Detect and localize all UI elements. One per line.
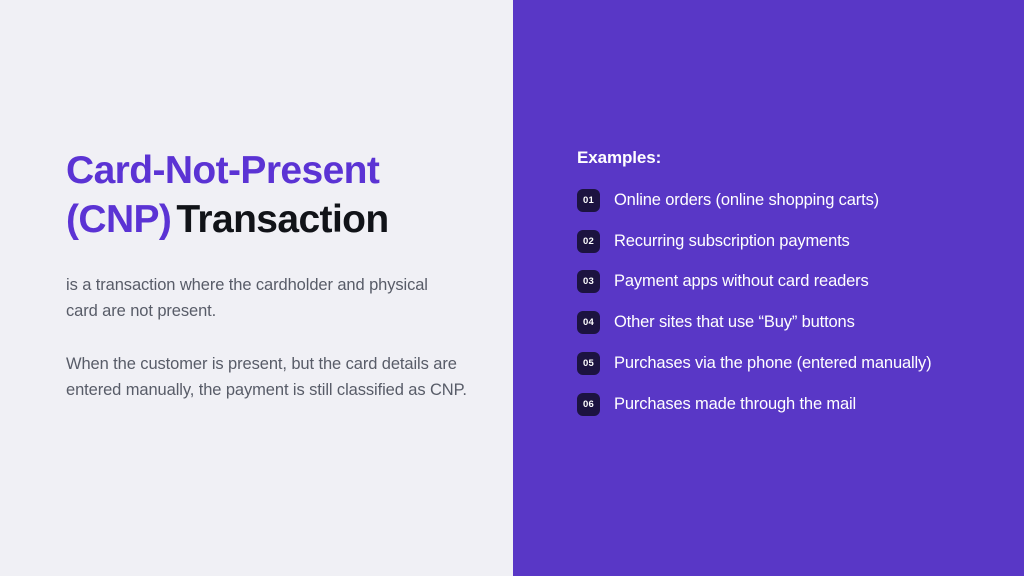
item-number-badge: 03 — [577, 270, 600, 293]
item-number-badge: 05 — [577, 352, 600, 375]
item-label: Online orders (online shopping carts) — [614, 187, 879, 214]
examples-list: 01 Online orders (online shopping carts)… — [577, 187, 977, 417]
item-label: Recurring subscription payments — [614, 228, 850, 255]
list-item: 03 Payment apps without card readers — [577, 268, 977, 295]
item-number-badge: 06 — [577, 393, 600, 416]
item-label: Other sites that use “Buy” buttons — [614, 309, 855, 336]
title-dark-text: Transaction — [176, 198, 388, 241]
slide-root: Card-Not-Present (CNP)Transaction is a t… — [0, 0, 1024, 576]
list-item: 06 Purchases made through the mail — [577, 391, 977, 418]
list-item: 02 Recurring subscription payments — [577, 228, 977, 255]
item-number-badge: 01 — [577, 189, 600, 212]
list-item: 01 Online orders (online shopping carts) — [577, 187, 977, 214]
item-label: Purchases made through the mail — [614, 391, 856, 418]
page-title: Card-Not-Present (CNP)Transaction — [66, 146, 486, 244]
list-item: 05 Purchases via the phone (entered manu… — [577, 350, 977, 377]
item-label: Purchases via the phone (entered manuall… — [614, 350, 931, 377]
definition-paragraph: is a transaction where the cardholder an… — [66, 272, 461, 324]
right-panel: Examples: 01 Online orders (online shopp… — [513, 0, 1024, 576]
item-label: Payment apps without card readers — [614, 268, 869, 295]
left-panel: Card-Not-Present (CNP)Transaction is a t… — [0, 0, 513, 576]
item-number-badge: 04 — [577, 311, 600, 334]
examples-heading: Examples: — [577, 148, 977, 168]
left-content: Card-Not-Present (CNP)Transaction is a t… — [66, 146, 486, 404]
list-item: 04 Other sites that use “Buy” buttons — [577, 309, 977, 336]
item-number-badge: 02 — [577, 230, 600, 253]
clarification-paragraph: When the customer is present, but the ca… — [66, 351, 471, 403]
examples-section: Examples: 01 Online orders (online shopp… — [577, 148, 977, 417]
